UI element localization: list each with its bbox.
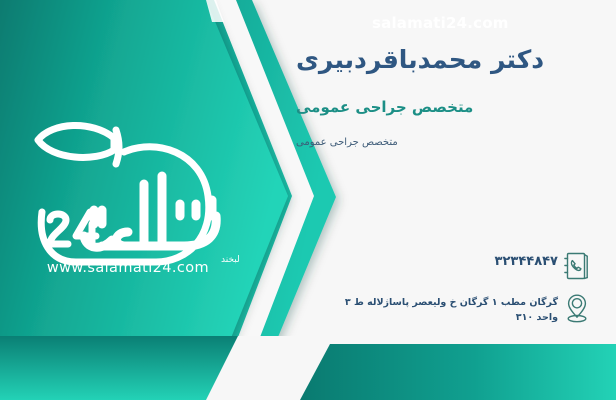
info-column: دکتر محمدباقردبیری متخصص جراحی عمومی متخ… <box>266 0 616 400</box>
location-pin-icon <box>560 290 594 326</box>
doctor-profile-card: به راحتی یک لبخند www.salamati24.com دکت… <box>0 0 616 400</box>
logo-wordmark <box>84 176 216 247</box>
specialty-primary: متخصص جراحی عمومی <box>296 98 588 118</box>
phone-number: ۳۲۳۴۴۸۴۷ <box>495 248 560 269</box>
contact-row-address[interactable]: گرگان مطب ۱ گرگان خ ولیعصر پاساژلاله ط ۳… <box>326 290 594 326</box>
doctor-name: دکتر محمدباقردبیری <box>296 44 588 75</box>
address-text: گرگان مطب ۱ گرگان خ ولیعصر پاساژلاله ط ۳… <box>326 290 560 325</box>
specialty-secondary: متخصص جراحی عمومی <box>296 136 588 149</box>
brand-logo: به راحتی یک لبخند www.salamati24.com <box>16 112 241 272</box>
logo-tagline: به راحتی یک لبخند <box>221 255 241 265</box>
contact-row-phone[interactable]: ۳۲۳۴۴۸۴۷ <box>495 248 594 284</box>
logo-website: www.salamati24.com <box>47 260 209 272</box>
logo-badge-24 <box>50 212 96 246</box>
footer-website[interactable]: salamati24.com <box>330 14 616 32</box>
phone-book-icon <box>560 248 594 284</box>
